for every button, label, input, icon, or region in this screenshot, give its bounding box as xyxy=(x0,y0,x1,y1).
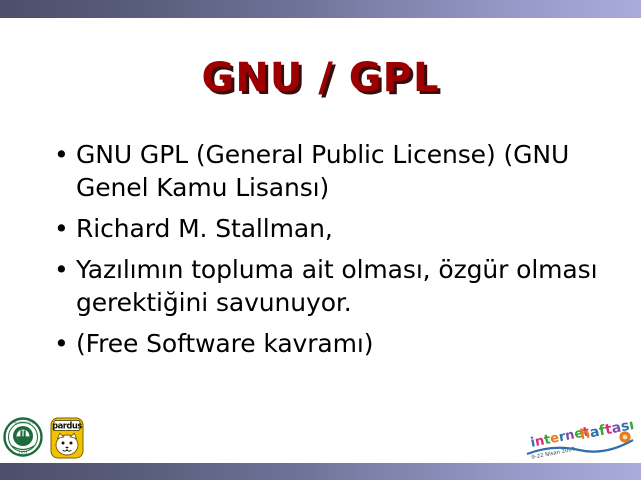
list-item: • GNU GPL (General Public License) (GNU … xyxy=(50,138,610,204)
list-item: • Richard M. Stallman, xyxy=(50,212,610,245)
list-item-text: Richard M. Stallman, xyxy=(76,212,610,245)
bullet-point-icon: • xyxy=(50,138,76,171)
pardus-logo-icon: pardus xyxy=(47,416,87,460)
bullet-list: • GNU GPL (General Public License) (GNU … xyxy=(50,138,610,368)
list-item-text: Yazılımın topluma ait olması, özgür olma… xyxy=(76,253,610,319)
bullet-point-icon: • xyxy=(50,253,76,286)
internet-haftasi-logo-icon: internet haftası 9-22 Nisan 2007 xyxy=(525,416,635,462)
footer-logo-group: 1973 UNIVERSITESI pardus xyxy=(3,416,87,460)
list-item: • Yazılımın topluma ait olması, özgür ol… xyxy=(50,253,610,319)
top-gradient-bar xyxy=(0,0,641,18)
list-item-text: (Free Software kavramı) xyxy=(76,327,610,360)
university-seal-icon: 1973 UNIVERSITESI xyxy=(3,416,43,458)
bullet-point-icon: • xyxy=(50,327,76,360)
list-item-text: GNU GPL (General Public License) (GNU Ge… xyxy=(76,138,610,204)
svg-text:pardus: pardus xyxy=(52,421,82,431)
bottom-gradient-bar xyxy=(0,463,641,480)
svg-text:UNIVERSITESI: UNIVERSITESI xyxy=(11,420,34,424)
bullet-point-icon: • xyxy=(50,212,76,245)
slide-title-container: GNU / GPL xyxy=(0,58,641,98)
svg-text:1973: 1973 xyxy=(19,451,28,455)
presentation-slide: GNU / GPL • GNU GPL (General Public Lice… xyxy=(0,0,641,480)
list-item: • (Free Software kavramı) xyxy=(50,327,610,360)
page-title: GNU / GPL xyxy=(202,58,440,98)
